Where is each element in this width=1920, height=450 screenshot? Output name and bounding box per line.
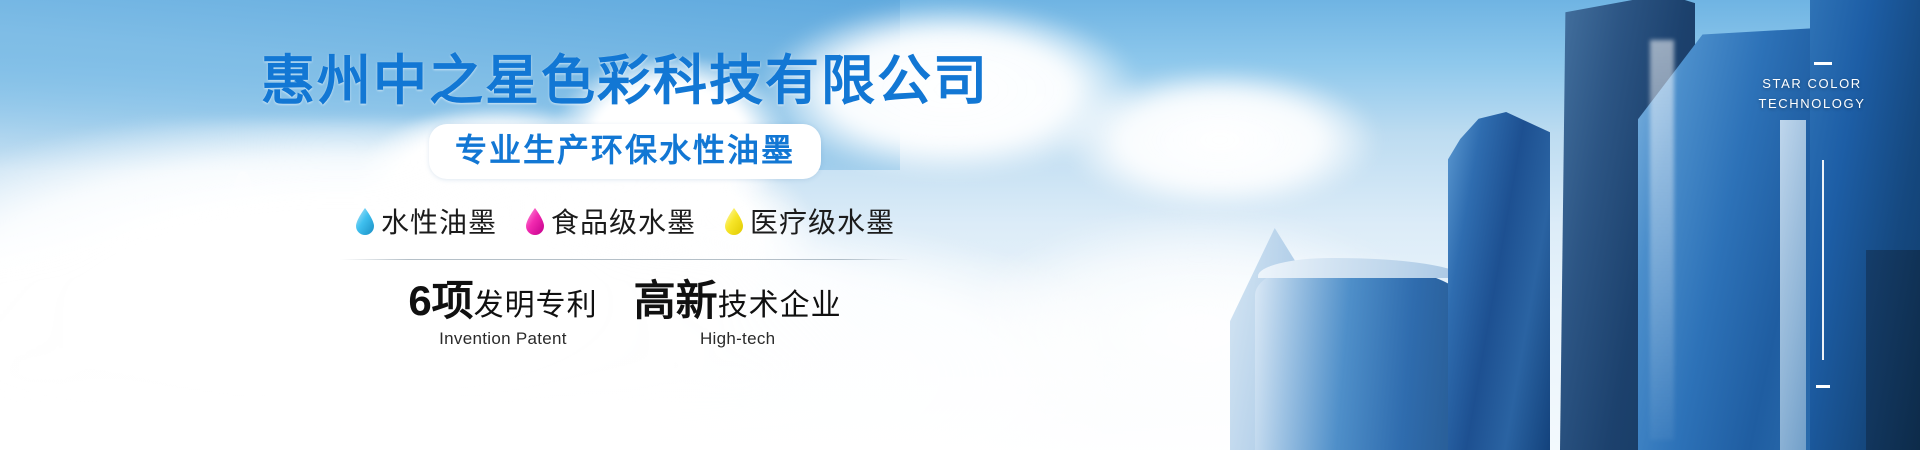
badge-english: High-tech — [700, 329, 775, 349]
building-sliver — [1780, 120, 1806, 450]
feature-item: 医疗级水墨 — [724, 201, 895, 241]
building-brand-label: STAR COLOR TECHNOLOGY — [1722, 74, 1902, 114]
building-curved — [1255, 262, 1470, 450]
feature-label: 食品级水墨 — [551, 201, 696, 241]
subtitle-text: 专业生产环保水性油墨 — [455, 131, 795, 169]
label-tick-top — [1814, 62, 1832, 65]
company-hero-banner: Star Color STAR COLOR TECHNOLOGY 惠州中之星色彩… — [0, 0, 1920, 450]
badge-chinese: 高新 技术企业 — [634, 280, 842, 322]
badge-item: 6项 发明专利 Invention Patent — [408, 280, 597, 349]
water-drop-icon — [355, 207, 375, 235]
feature-item: 水性油墨 — [355, 201, 497, 241]
building-brand-line1: STAR COLOR — [1722, 74, 1902, 94]
feature-label: 医疗级水墨 — [750, 201, 895, 241]
skyscrapers-photo: STAR COLOR TECHNOLOGY — [1220, 0, 1920, 450]
subtitle-pill: 专业生产环保水性油墨 — [429, 124, 821, 178]
label-vertical-rule — [1822, 160, 1824, 360]
label-tick-bottom — [1816, 385, 1830, 388]
feature-label: 水性油墨 — [381, 201, 497, 241]
badge-item: 高新 技术企业 High-tech — [634, 280, 842, 349]
company-title: 惠州中之星色彩科技有限公司 — [261, 52, 989, 110]
badge-rest-text: 发明专利 — [474, 291, 598, 321]
badge-chinese: 6项 发明专利 — [408, 280, 597, 322]
banner-content: 惠州中之星色彩科技有限公司 专业生产环保水性油墨 水性油墨 — [0, 0, 1250, 450]
water-drop-icon — [525, 207, 545, 235]
building-highlight — [1650, 40, 1674, 440]
badge-rest-text: 技术企业 — [718, 291, 842, 321]
building-curved-cap — [1258, 258, 1463, 278]
badge-english: Invention Patent — [439, 329, 567, 349]
feature-list: 水性油墨 食品级水墨 医疗级水墨 — [355, 201, 895, 241]
feature-item: 食品级水墨 — [525, 201, 696, 241]
credential-badges: 6项 发明专利 Invention Patent 高新 技术企业 High-te… — [408, 280, 841, 349]
building-brand-line2: TECHNOLOGY — [1722, 94, 1902, 114]
building-round-tower — [1448, 112, 1550, 450]
water-drop-icon — [724, 207, 744, 235]
section-divider — [340, 259, 910, 260]
badge-strong-text: 6项 — [408, 280, 473, 322]
badge-strong-text: 高新 — [634, 280, 718, 322]
building-right-dark — [1866, 250, 1920, 450]
